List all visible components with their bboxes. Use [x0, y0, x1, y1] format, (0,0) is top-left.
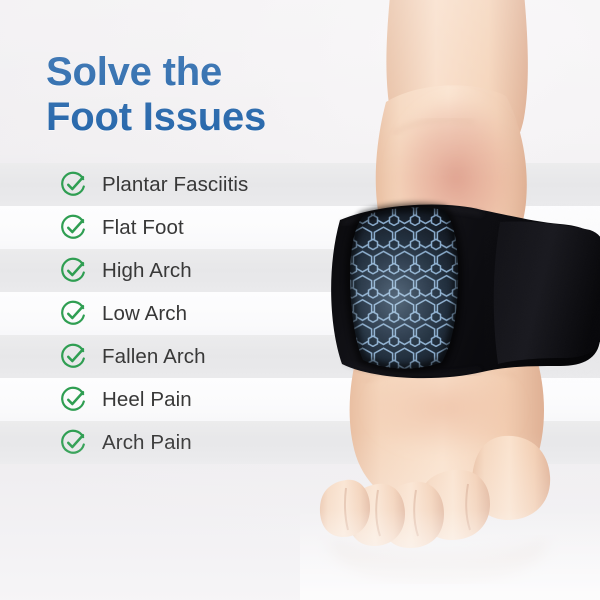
- background-vignette: [0, 0, 600, 600]
- banner-stage: Solve the Foot Issues Plantar FasciitisF…: [0, 0, 600, 600]
